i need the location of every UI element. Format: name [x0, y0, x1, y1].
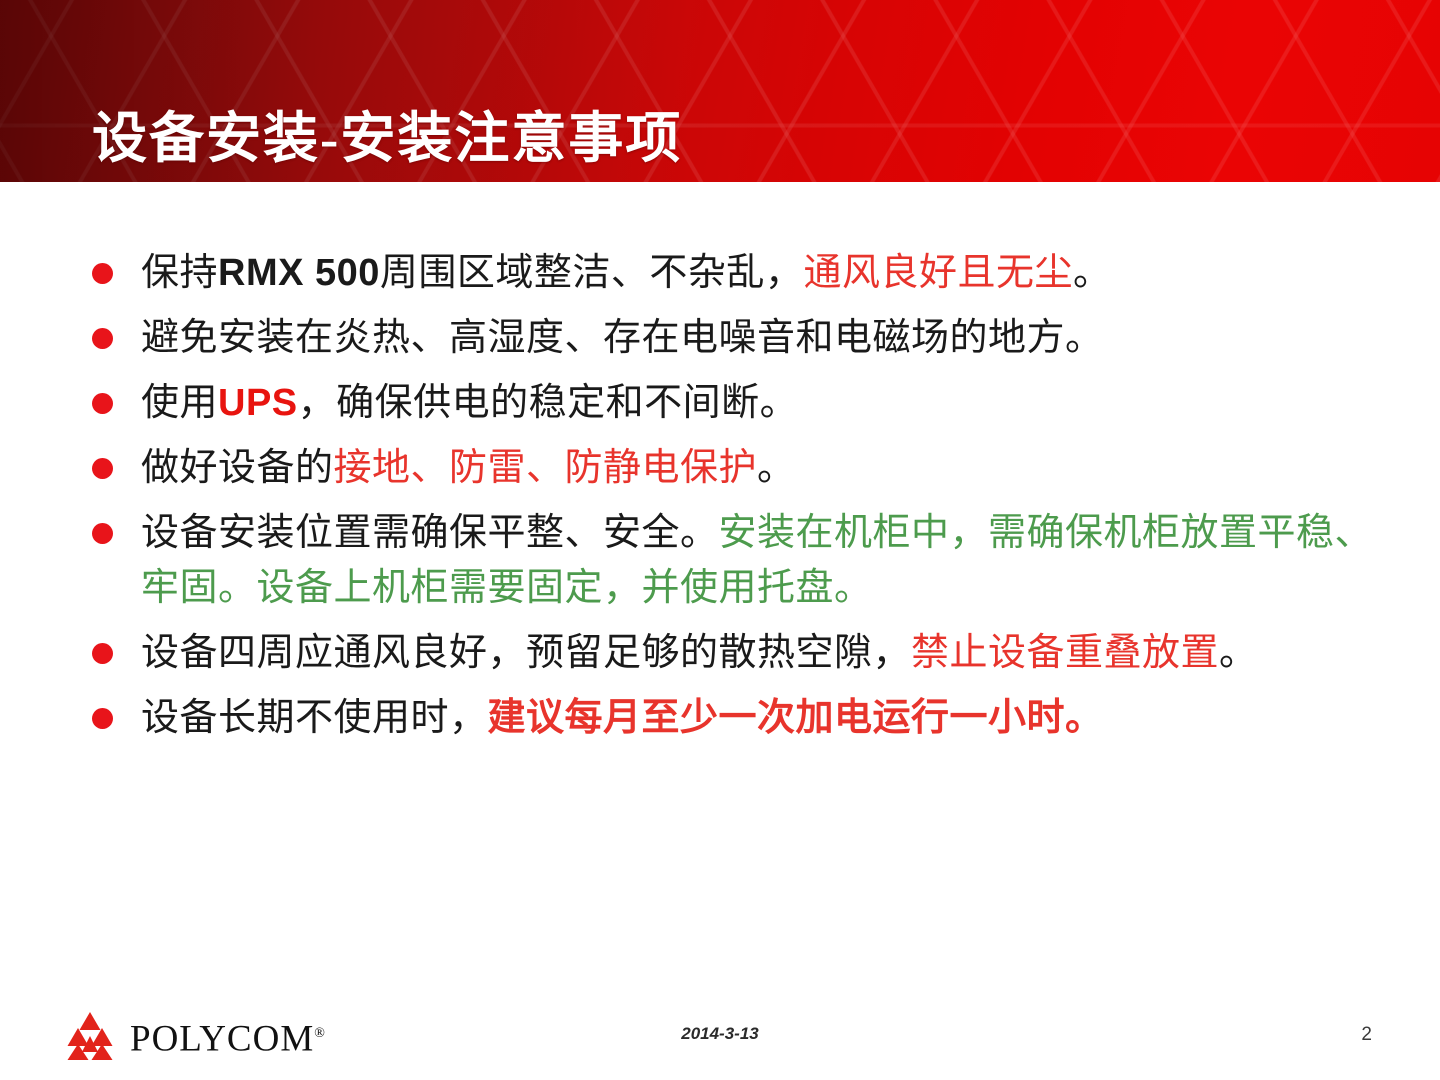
text-segment: 使用: [141, 382, 218, 424]
text-segment: 接地、防雷、防静电保护: [334, 447, 758, 489]
list-item-text: 设备安装位置需确保平整、安全。安装在机柜中，需确保机柜放置平稳、牢固。设备上机柜…: [141, 506, 1400, 616]
text-segment: 。: [757, 447, 796, 489]
text-segment: 避免安装在炎热、高湿度、存在电噪音和电磁场的地方。: [141, 317, 1104, 359]
text-segment: ，确保供电的稳定和不间断。: [298, 382, 799, 424]
text-segment: 。: [1073, 252, 1112, 294]
footer-date: 2014-3-13: [0, 1024, 1440, 1044]
list-item: 避免安装在炎热、高湿度、存在电噪音和电磁场的地方。: [0, 311, 1440, 366]
list-item: 做好设备的接地、防雷、防静电保护。: [0, 441, 1440, 496]
text-segment: 做好设备的: [141, 447, 334, 489]
slide-footer: POLYCOM® 2014-3-13 2: [0, 984, 1440, 1080]
list-item-text: 保持RMX 500周围区域整洁、不杂乱，通风良好且无尘。: [141, 246, 1400, 301]
bullet-point-icon: [92, 708, 113, 729]
bullet-list: 保持RMX 500周围区域整洁、不杂乱，通风良好且无尘。避免安装在炎热、高湿度、…: [0, 246, 1440, 756]
text-segment: UPS: [218, 382, 298, 424]
bullet-point-icon: [92, 263, 113, 284]
text-segment: 周围区域整洁、不杂乱，: [380, 252, 804, 294]
list-item-text: 做好设备的接地、防雷、防静电保护。: [141, 441, 1400, 496]
text-segment: 通风良好且无尘: [803, 252, 1073, 294]
list-item: 设备长期不使用时，建议每月至少一次加电运行一小时。: [0, 691, 1440, 746]
list-item-text: 设备长期不使用时，建议每月至少一次加电运行一小时。: [141, 691, 1400, 746]
list-item: 设备安装位置需确保平整、安全。安装在机柜中，需确保机柜放置平稳、牢固。设备上机柜…: [0, 506, 1440, 616]
bullet-point-icon: [92, 523, 113, 544]
list-item: 设备四周应通风良好，预留足够的散热空隙，禁止设备重叠放置。: [0, 626, 1440, 681]
text-segment: 禁止设备重叠放置: [911, 632, 1219, 674]
bullet-point-icon: [92, 393, 113, 414]
text-segment: 设备长期不使用时，: [141, 697, 488, 739]
bullet-point-icon: [92, 458, 113, 479]
text-segment: RMX 500: [218, 252, 380, 294]
text-segment: 保持: [141, 252, 218, 294]
bullet-point-icon: [92, 328, 113, 349]
text-segment: 建议每月至少一次加电运行一小时。: [488, 697, 1104, 739]
list-item-text: 设备四周应通风良好，预留足够的散热空隙，禁止设备重叠放置。: [141, 626, 1400, 681]
list-item-text: 避免安装在炎热、高湿度、存在电噪音和电磁场的地方。: [141, 311, 1400, 366]
text-segment: 设备安装位置需确保平整、安全。: [141, 512, 719, 554]
slide-header-banner: 设备安装-安装注意事项: [0, 0, 1440, 182]
bullet-point-icon: [92, 643, 113, 664]
text-segment: 。: [1219, 632, 1258, 674]
page-title: 设备安装-安装注意事项: [92, 108, 682, 170]
list-item-text: 使用UPS，确保供电的稳定和不间断。: [141, 376, 1400, 431]
text-segment: 设备四周应通风良好，预留足够的散热空隙，: [141, 632, 911, 674]
list-item: 使用UPS，确保供电的稳定和不间断。: [0, 376, 1440, 431]
list-item: 保持RMX 500周围区域整洁、不杂乱，通风良好且无尘。: [0, 246, 1440, 301]
footer-page-number: 2: [1361, 1024, 1372, 1046]
